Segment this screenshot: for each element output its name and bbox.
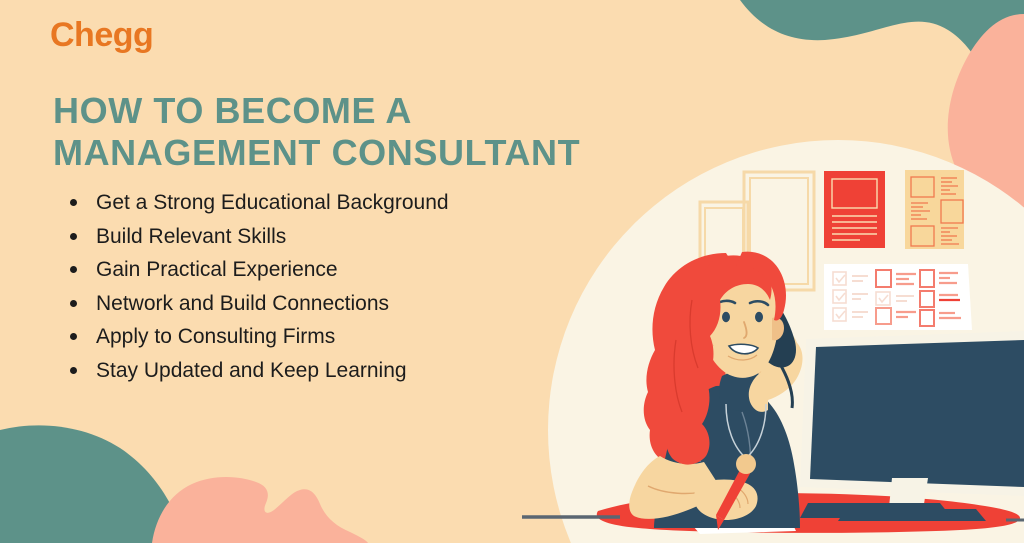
list-item-label: Network and Build Connections [96,292,389,315]
list-item: Build Relevant Skills [96,220,656,254]
bullet-icon [70,266,77,273]
list-item-label: Gain Practical Experience [96,258,338,281]
list-item: Gain Practical Experience [96,253,656,287]
list-item: Apply to Consulting Firms [96,320,656,354]
list-item: Stay Updated and Keep Learning [96,354,656,388]
bullet-icon [70,199,77,206]
list-item-label: Apply to Consulting Firms [96,325,335,348]
bullet-icon [70,233,77,240]
text-content-layer: Chegg How to Become a Management Consult… [0,0,1024,543]
list-item-label: Stay Updated and Keep Learning [96,359,407,382]
list-item-label: Build Relevant Skills [96,225,286,248]
page-title: How to Become a Management Consultant [53,90,653,174]
list-item: Network and Build Connections [96,287,656,321]
bullet-icon [70,300,77,307]
list-item: Get a Strong Educational Background [96,186,656,220]
bullet-icon [70,333,77,340]
bullet-icon [70,367,77,374]
page-title-line-1: How to Become a [53,90,412,131]
poster-canvas: Chegg How to Become a Management Consult… [0,0,1024,543]
chegg-logo[interactable]: Chegg [50,18,153,52]
steps-list: Get a Strong Educational Background Buil… [58,186,656,387]
list-item-label: Get a Strong Educational Background [96,191,449,214]
page-title-line-2: Management Consultant [53,132,580,173]
